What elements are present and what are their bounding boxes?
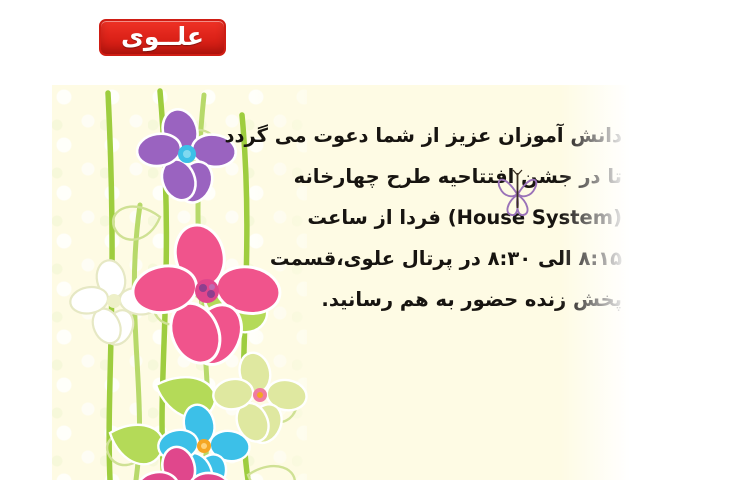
house-system-term: (House System)	[448, 206, 622, 229]
announcement-card: .stem { fill:none; stroke:#9ecd3f; strok…	[52, 85, 630, 480]
announcement-page: علــوی .stem { fill:none; stroke:#9ecd3f…	[0, 0, 750, 480]
message-line-3-text: فردا از ساعت	[307, 206, 441, 229]
message-line-1: دانش آموزان عزیز از شما دعوت می گردد	[66, 115, 622, 156]
invitation-message: دانش آموزان عزیز از شما دعوت می گردد تا …	[66, 115, 626, 320]
school-logo: علــوی	[99, 19, 226, 56]
logo-text: علــوی	[99, 19, 226, 56]
message-line-3: (House System) فردا از ساعت	[66, 197, 622, 238]
message-line-4: ۸:۱۵ الی ۸:۳۰ در پرتال علوی،قسمت	[66, 238, 622, 279]
message-line-2: تا در جشن افتتاحیه طرح چهارخانه	[66, 156, 622, 197]
message-line-5: پخش زنده حضور به هم رسانید.	[66, 279, 622, 320]
